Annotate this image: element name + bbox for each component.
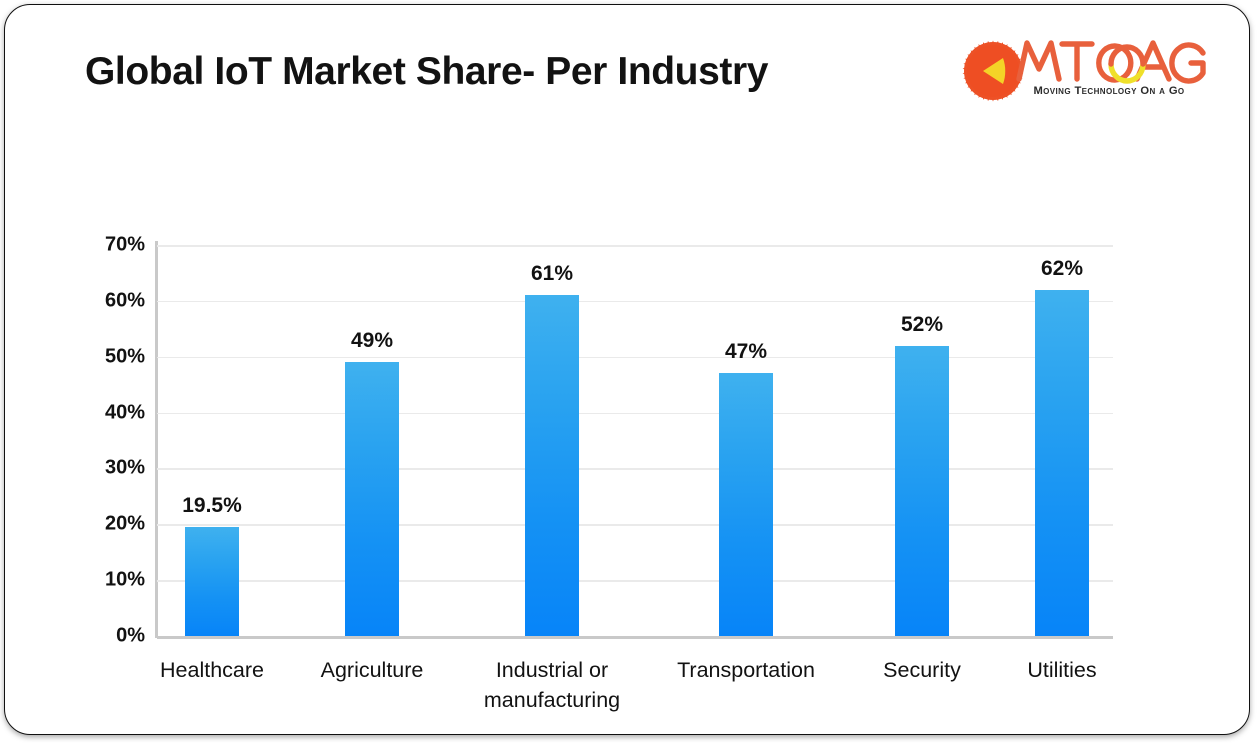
y-tick-label: 50% [75, 345, 145, 368]
bar-group[interactable]: 49% [345, 245, 399, 636]
y-tick-label: 10% [75, 569, 145, 592]
bar[interactable] [895, 346, 949, 636]
bar-group[interactable]: 19.5% [185, 245, 239, 636]
x-axis-label-line: Transportation [646, 655, 846, 685]
chart-card: Global IoT Market Share- Per Industry [4, 4, 1250, 735]
y-tick-label: 30% [75, 457, 145, 480]
y-tick-label: 60% [75, 289, 145, 312]
bar-group[interactable]: 62% [1035, 245, 1089, 636]
y-tick-label: 70% [75, 234, 145, 257]
bar-value-label: 19.5% [182, 494, 242, 518]
bar-value-label: 49% [351, 329, 393, 353]
x-axis-label-line: Agriculture [272, 655, 472, 685]
y-tick-label: 40% [75, 401, 145, 424]
bar-value-label: 52% [901, 313, 943, 337]
x-axis-label: Utilities [962, 655, 1162, 685]
bar-group[interactable]: 61% [525, 245, 579, 636]
bar[interactable] [345, 362, 399, 636]
bar-series: 19.5%49%61%47%52%62% [157, 245, 1113, 636]
page-title: Global IoT Market Share- Per Industry [85, 50, 768, 94]
bar[interactable] [1035, 290, 1089, 636]
x-axis-labels: HealthcareAgricultureIndustrial ormanufa… [157, 655, 1113, 725]
brand-logo: Moving Technology On a Go [957, 33, 1205, 111]
bar-value-label: 62% [1041, 257, 1083, 281]
x-axis-label-line: Industrial or [452, 655, 652, 685]
bar-value-label: 47% [725, 340, 767, 364]
x-axis-label-line: Utilities [962, 655, 1162, 685]
bar-value-label: 61% [531, 262, 573, 286]
y-tick-label: 20% [75, 513, 145, 536]
bar[interactable] [525, 295, 579, 636]
axis-baseline [157, 636, 1113, 639]
y-tick-label: 0% [75, 625, 145, 648]
logo-tagline: Moving Technology On a Go [1013, 85, 1205, 97]
x-axis-label: Agriculture [272, 655, 472, 685]
x-axis-label: Transportation [646, 655, 846, 685]
x-axis-label-line: manufacturing [452, 685, 652, 715]
bar[interactable] [719, 373, 773, 636]
bar-group[interactable]: 47% [719, 245, 773, 636]
y-axis-ticks: 0%10%20%30%40%50%60%70% [73, 241, 145, 640]
x-axis-label: Industrial ormanufacturing [452, 655, 652, 715]
bar[interactable] [185, 527, 239, 636]
mtoag-wordmark-icon [1015, 35, 1207, 85]
bar-group[interactable]: 52% [895, 245, 949, 636]
